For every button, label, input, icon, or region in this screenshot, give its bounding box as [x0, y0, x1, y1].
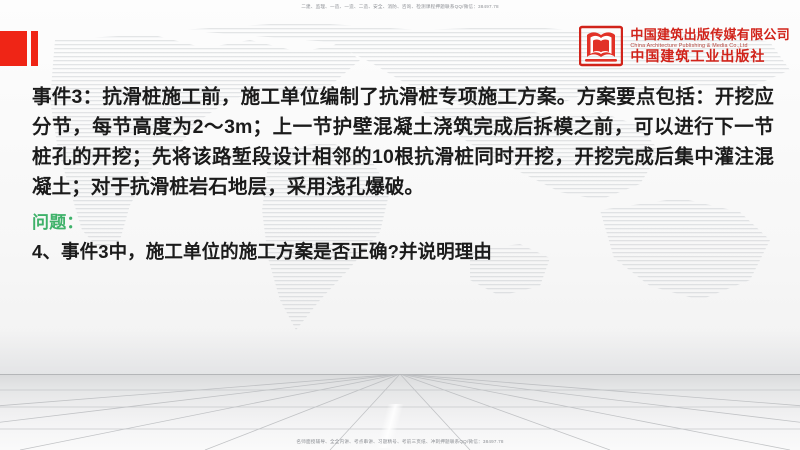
question-label: 问题： [32, 210, 774, 236]
publisher-company-cn: 中国建筑出版传媒有限公司 [630, 27, 790, 42]
publisher-company-en: China Architecture Publishing & Media Co… [630, 42, 790, 50]
open-book-logo-icon [579, 24, 623, 68]
publisher-press-cn: 中国建筑工业出版社 [630, 50, 790, 66]
red-bar-decoration [31, 31, 38, 66]
slide-content: 事件3：抗滑桩施工前，施工单位编制了抗滑桩专项施工方案。方案要点包括：开挖应分节… [32, 82, 774, 266]
publisher-logo: 中国建筑出版传媒有限公司 China Architecture Publishi… [579, 24, 790, 68]
publisher-logo-text: 中国建筑出版传媒有限公司 China Architecture Publishi… [630, 27, 790, 66]
wall-shadow [0, 330, 800, 376]
header-watermark-note: 二建、监理、一造、一造、二造、安全、消防、咨询、检测课程押题联系QQ/微信：38… [0, 3, 800, 11]
slide-canvas: 二建、监理、一造、一造、二造、安全、消防、咨询、检测课程押题联系QQ/微信：38… [0, 0, 800, 450]
question-item-4: 4、事件3中，施工单位的施工方案是否正确?并说明理由 [32, 238, 774, 266]
footer-watermark-note: 名师面授辅导、全全内讲、考点串讲、习题精号、考前三页纸、冲刺押题联系QQ/微信：… [0, 438, 800, 446]
red-block-decoration [0, 31, 27, 66]
case-paragraph: 事件3：抗滑桩施工前，施工单位编制了抗滑桩专项施工方案。方案要点包括：开挖应分节… [32, 82, 774, 202]
